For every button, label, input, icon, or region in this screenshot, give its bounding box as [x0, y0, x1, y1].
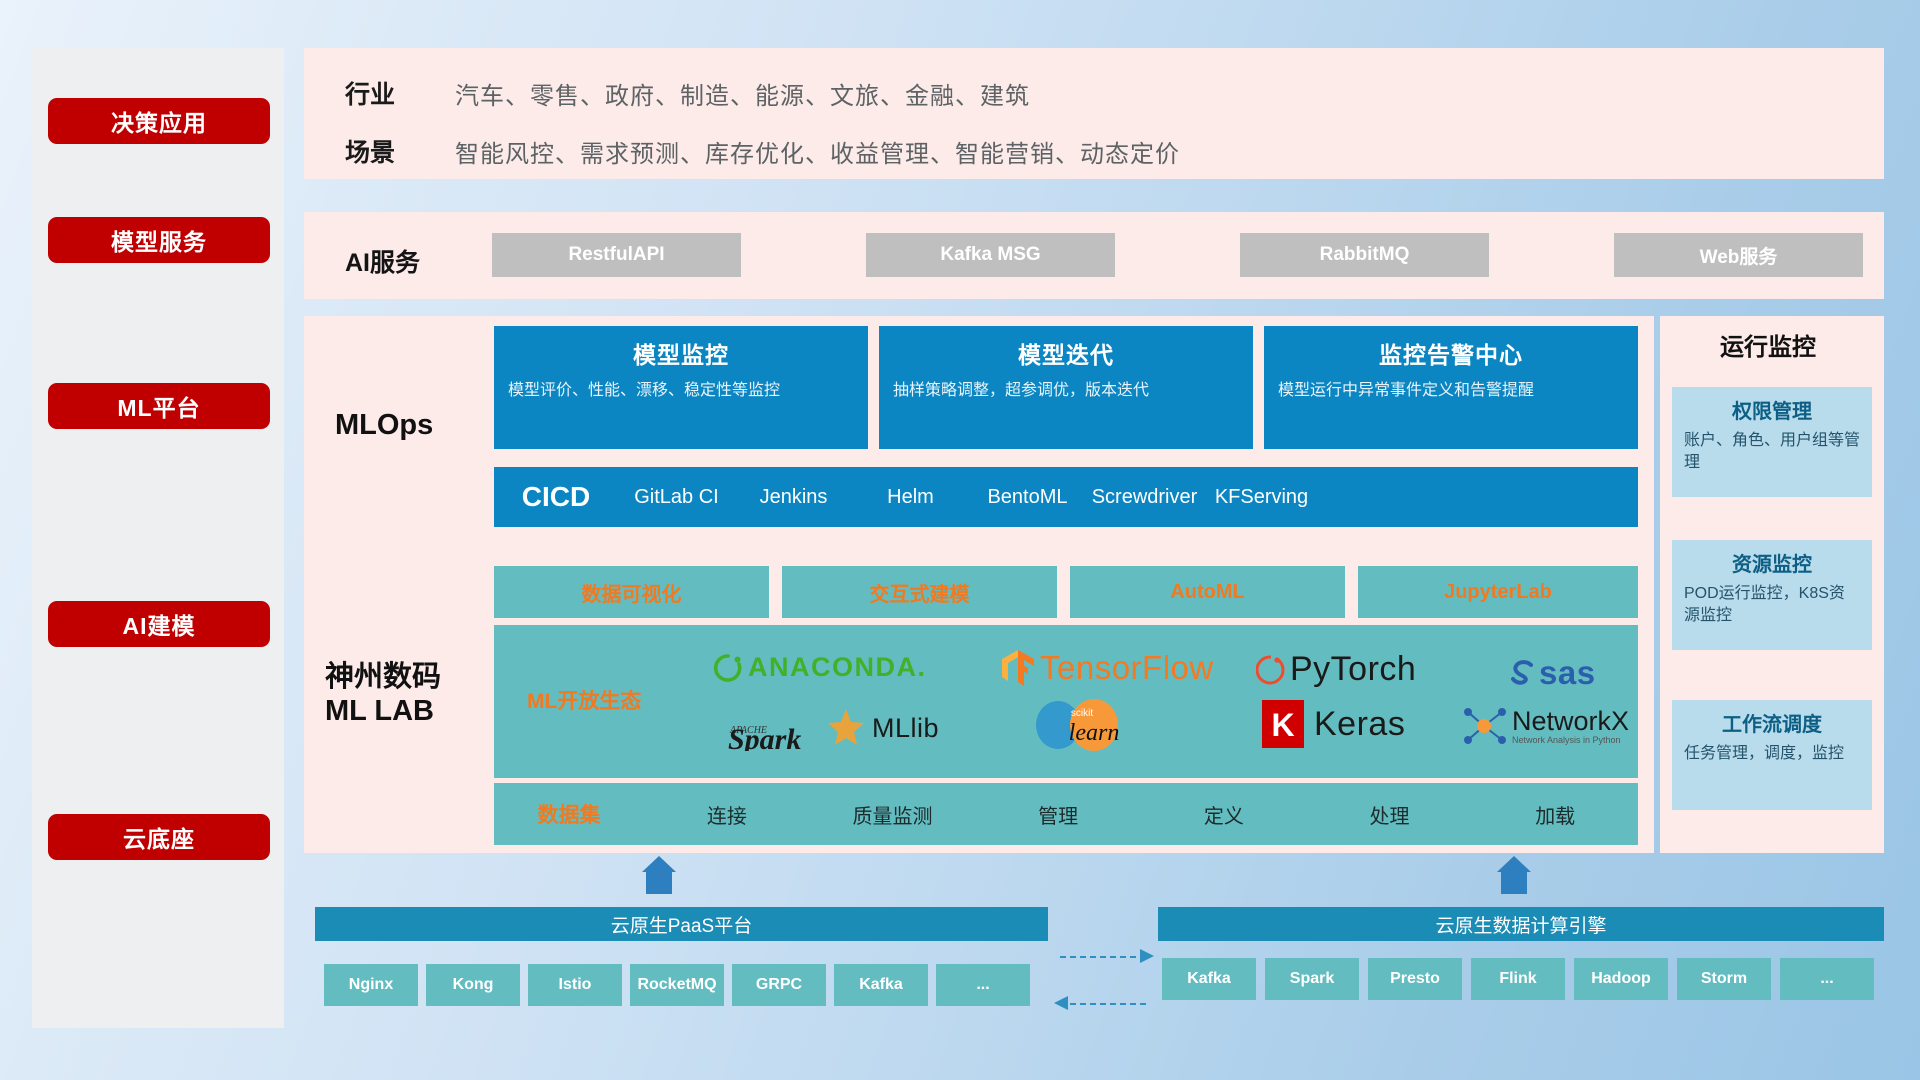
monitor-card-resource[interactable]: 资源监控 POD运行监控，K8S资源监控 [1672, 540, 1872, 650]
mlops-card-model-iteration[interactable]: 模型迭代 抽样策略调整，超参调优，版本迭代 [879, 326, 1253, 449]
tech-chip-presto[interactable]: Presto [1368, 958, 1462, 1000]
ml-ecosystem-label: ML开放生态 [527, 685, 641, 715]
ml-lab-label-line2: ML LAB [325, 694, 441, 728]
logo-scikit-learn: scikit learn [1032, 698, 1152, 752]
tool-chip-jupyterlab[interactable]: JupyterLab [1358, 566, 1638, 618]
tool-chip-automl[interactable]: AutoML [1070, 566, 1345, 618]
tech-chip-more-left[interactable]: ... [936, 964, 1030, 1006]
tool-chip-data-visualization[interactable]: 数据可视化 [494, 566, 769, 618]
svg-text:learn: learn [1069, 720, 1120, 746]
tech-chip-spark[interactable]: Spark [1265, 958, 1359, 1000]
cicd-label: CICD [494, 481, 618, 513]
monitor-card-desc: 账户、角色、用户组等管理 [1684, 430, 1860, 475]
logo-keras-text: Keras [1314, 705, 1405, 744]
paas-platform-bar[interactable]: 云原生PaaS平台 [315, 907, 1048, 941]
connector-arrow-left [1054, 996, 1070, 1012]
mlops-card-title: 模型迭代 [893, 336, 1239, 370]
decision-value-industry: 汽车、零售、政府、制造、能源、文旅、金融、建筑 [455, 76, 1030, 111]
logo-networkx: NetworkX Network Analysis in Python [1462, 704, 1629, 748]
dataset-item-quality-monitor[interactable]: 质量监测 [810, 800, 976, 829]
logo-sas-text: sas [1539, 654, 1596, 692]
layer-label-model-service[interactable]: 模型服务 [48, 217, 270, 263]
layer-label-ai-modeling[interactable]: AI建模 [48, 601, 270, 647]
cicd-item-jenkins[interactable]: Jenkins [735, 483, 852, 512]
ai-service-chip-web-service[interactable]: Web服务 [1614, 233, 1863, 277]
monitor-card-workflow[interactable]: 工作流调度 任务管理，调度，监控 [1672, 700, 1872, 810]
tech-chip-hadoop[interactable]: Hadoop [1574, 958, 1668, 1000]
cicd-item-kfserving[interactable]: KFServing [1203, 483, 1320, 512]
layer-label-decision[interactable]: 决策应用 [48, 98, 270, 144]
logo-anaconda: ANACONDA . [713, 652, 925, 683]
mlops-card-desc: 模型运行中异常事件定义和告警提醒 [1278, 379, 1624, 402]
ai-service-label: AI服务 [345, 243, 420, 279]
logo-pytorch-text: PyTorch [1290, 650, 1416, 689]
logo-spark-mllib: APACHE Spark MLlib [728, 705, 939, 751]
tech-chip-more-right[interactable]: ... [1780, 958, 1874, 1000]
logo-mllib-text: MLlib [872, 713, 939, 744]
decision-row-industry: 行业 汽车、零售、政府、制造、能源、文旅、金融、建筑 [345, 75, 1845, 111]
monitor-title: 运行监控 [1720, 327, 1816, 362]
dataset-item-manage[interactable]: 管理 [975, 800, 1141, 829]
monitor-card-permission[interactable]: 权限管理 账户、角色、用户组等管理 [1672, 387, 1872, 497]
dataset-item-connect[interactable]: 连接 [644, 800, 810, 829]
cicd-item-bentoml[interactable]: BentoML [969, 483, 1086, 512]
decision-value-scenario: 智能风控、需求预测、库存优化、收益管理、智能营销、动态定价 [455, 134, 1180, 169]
logo-networkx-tagline: Network Analysis in Python [1512, 735, 1629, 745]
tech-chip-storm[interactable]: Storm [1677, 958, 1771, 1000]
dataset-bar: 数据集 连接 质量监测 管理 定义 处理 加载 [494, 783, 1638, 845]
tech-chip-kafka-right[interactable]: Kafka [1162, 958, 1256, 1000]
connector-line-top [1060, 956, 1146, 958]
svg-text:K: K [1271, 707, 1294, 743]
mlops-card-title: 监控告警中心 [1278, 336, 1624, 370]
tensorflow-icon [1000, 648, 1036, 688]
logo-tensorflow: TensorFlow [1000, 648, 1214, 688]
monitor-card-desc: 任务管理，调度，监控 [1684, 743, 1860, 765]
tech-chip-rocketmq[interactable]: RocketMQ [630, 964, 724, 1006]
pytorch-icon [1256, 653, 1286, 687]
networkx-icon [1462, 704, 1508, 748]
dataset-item-process[interactable]: 处理 [1307, 800, 1473, 829]
layer-label-ml-platform[interactable]: ML平台 [48, 383, 270, 429]
svg-text:Spark: Spark [728, 723, 801, 751]
arrow-up-right [1497, 856, 1531, 894]
ml-lab-label-line1: 神州数码 [325, 660, 441, 694]
decision-row-scenario: 场景 智能风控、需求预测、库存优化、收益管理、智能营销、动态定价 [345, 133, 1845, 169]
anaconda-icon [713, 653, 743, 683]
tech-chip-nginx[interactable]: Nginx [324, 964, 418, 1006]
dataset-item-load[interactable]: 加载 [1472, 800, 1638, 829]
tech-chip-grpc[interactable]: GRPC [732, 964, 826, 1006]
dataset-label: 数据集 [494, 799, 644, 829]
spark-icon: APACHE Spark [728, 705, 868, 751]
tech-chip-kong[interactable]: Kong [426, 964, 520, 1006]
keras-icon: K [1262, 700, 1306, 748]
logo-networkx-text: NetworkX [1512, 708, 1629, 735]
mlops-label: MLOps [335, 409, 433, 442]
tech-chip-flink[interactable]: Flink [1471, 958, 1565, 1000]
ml-lab-label: 神州数码 ML LAB [325, 660, 441, 728]
mlops-card-model-monitor[interactable]: 模型监控 模型评价、性能、漂移、稳定性等监控 [494, 326, 868, 449]
svg-text:scikit: scikit [1071, 708, 1093, 719]
scikit-learn-icon: scikit learn [1032, 698, 1152, 752]
data-engine-bar[interactable]: 云原生数据计算引擎 [1158, 907, 1884, 941]
decision-key-industry: 行业 [345, 75, 455, 111]
monitor-card-title: 工作流调度 [1684, 708, 1860, 737]
layer-rail: 决策应用 模型服务 ML平台 AI建模 云底座 [32, 48, 284, 1028]
dataset-item-define[interactable]: 定义 [1141, 800, 1307, 829]
cicd-item-screwdriver[interactable]: Screwdriver [1086, 483, 1203, 512]
monitor-card-title: 资源监控 [1684, 548, 1860, 577]
mlops-card-alert-center[interactable]: 监控告警中心 模型运行中异常事件定义和告警提醒 [1264, 326, 1638, 449]
cicd-bar: CICD GitLab CI Jenkins Helm BentoML Scre… [494, 467, 1638, 527]
decision-key-scenario: 场景 [345, 133, 455, 169]
cicd-item-gitlab-ci[interactable]: GitLab CI [618, 483, 735, 512]
connector-line-bottom [1060, 1003, 1146, 1005]
layer-label-cloud-base[interactable]: 云底座 [48, 814, 270, 860]
tech-chip-istio[interactable]: Istio [528, 964, 622, 1006]
logo-pytorch: PyTorch [1256, 650, 1416, 689]
sas-icon [1506, 657, 1538, 689]
logo-sas: sas [1506, 654, 1596, 692]
arrow-up-left [642, 856, 676, 894]
logo-anaconda-text: ANACONDA [748, 652, 918, 683]
ai-service-chip-restfulapi[interactable]: RestfulAPI [492, 233, 741, 277]
mlops-card-desc: 抽样策略调整，超参调优，版本迭代 [893, 379, 1239, 402]
monitor-card-desc: POD运行监控，K8S资源监控 [1684, 583, 1860, 628]
tech-chip-kafka-left[interactable]: Kafka [834, 964, 928, 1006]
monitor-card-title: 权限管理 [1684, 395, 1860, 424]
mlops-card-desc: 模型评价、性能、漂移、稳定性等监控 [508, 379, 854, 402]
connector-arrow-right [1140, 949, 1156, 965]
logo-keras: K Keras [1262, 700, 1405, 748]
ai-service-chip-kafka-msg[interactable]: Kafka MSG [866, 233, 1115, 277]
cicd-item-helm[interactable]: Helm [852, 483, 969, 512]
ai-service-chip-rabbitmq[interactable]: RabbitMQ [1240, 233, 1489, 277]
mlops-card-title: 模型监控 [508, 336, 854, 370]
tool-chip-interactive-modeling[interactable]: 交互式建模 [782, 566, 1057, 618]
logo-tensorflow-text: TensorFlow [1040, 649, 1214, 687]
